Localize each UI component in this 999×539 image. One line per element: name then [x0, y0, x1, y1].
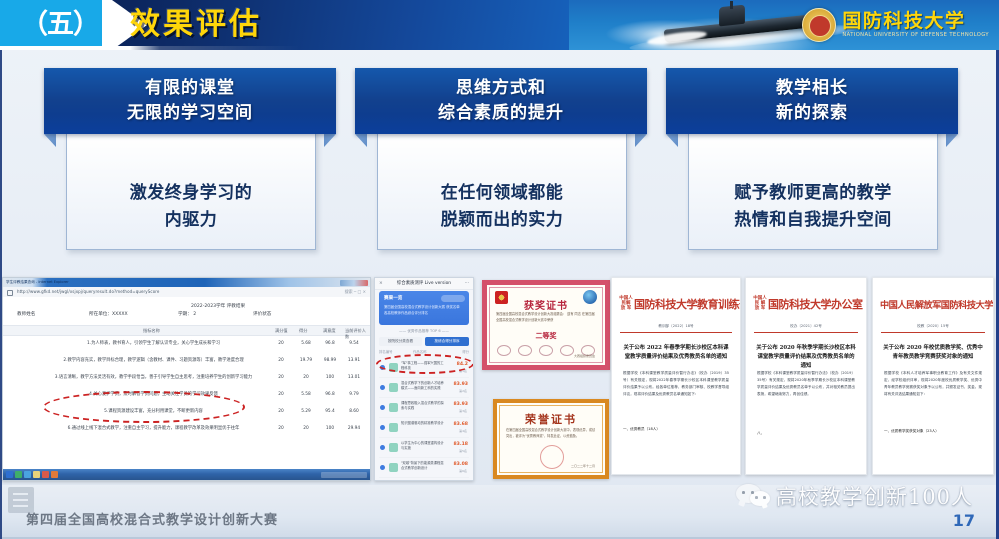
item-3-score: 83.68: [453, 422, 468, 427]
windows-taskbar: [3, 469, 370, 480]
header-underline: [0, 46, 999, 50]
official-document-1: 中国人民解 放 军国防科技大学教育训练部 教训部〔2022〕18号 关于公布 2…: [611, 277, 741, 475]
university-name-en: NATIONAL UNIVERSITY OF DEFENSE TECHNOLOG…: [842, 31, 989, 39]
outcome-card-1-banner: 有限的课堂 无限的学习空间: [44, 68, 336, 134]
ranking-app-screenshot: × 综合素质测评 Live version ··· 赛果一览 第四届全国高校混合…: [374, 277, 474, 481]
row-3-c1: 5.58: [294, 386, 318, 403]
doc-2-paragraph: 根据学校《本科课堂教学质量评价暂行办法》（校办〔2019〕35号）有关规定，现将…: [757, 370, 855, 398]
doc-1-title: 关于公布 2022 年春季学期长沙校区本科课堂教学质量评价结果及优秀教员名单的通…: [622, 344, 730, 362]
evaluation-meta: 教师姓名 所在单位：XXXXX 学期： 2 2022-2023学年 评教结果 评…: [3, 303, 370, 319]
doc-3-title: 关于公布 2020 年校优质教学奖、优秀中青年教员教学竞赛获奖对象的通知: [883, 344, 983, 362]
radio-icon[interactable]: [380, 405, 385, 410]
radio-icon[interactable]: [380, 465, 385, 470]
award-certificate-sign: 大赛组织委员会: [574, 354, 595, 358]
col-header-2: 得分: [299, 328, 307, 334]
honor-certificate-title: 荣誉证书: [497, 411, 605, 427]
row-5-c2: 100: [318, 420, 342, 437]
slide-canvas: （五） 效果评估 国防科技大学 NATIONAL UNIVERSITY OF D…: [0, 0, 999, 539]
app-tabs: 按院校分类查看 按综合得分排序: [379, 337, 469, 346]
radio-icon[interactable]: [380, 425, 385, 430]
table-row: 2.教学内容充实，教学目标合理，教学逻辑（含教材、课件、习题资源等）丰富，教学进…: [3, 352, 370, 369]
doc-2-org: 中国人民 解 放 军国防科技大学办公室: [753, 296, 859, 311]
item-1-rank: 第2名: [459, 389, 467, 393]
outcome-card-1-banner-line2: 无限的学习空间: [127, 101, 253, 126]
row-5-c1: 20: [294, 420, 318, 437]
submarine-mast: [730, 1, 733, 9]
item-thumbnail: [389, 463, 398, 472]
row-4-c1: 5.29: [294, 403, 318, 420]
doc-1-number: 教训部〔2022〕18号: [612, 324, 740, 329]
outcome-card-3-body: 赋予教师更高的教学 热情和自我提升空间: [689, 165, 937, 249]
slide-footer: 第四届全国高校混合式教学设计创新大赛 高校教学创新100人 17: [0, 485, 999, 539]
official-document-2: 中国人民 解 放 军国防科技大学办公室 校办〔2021〕42号 关于公布 202…: [745, 277, 867, 475]
item-5-name: "双碳"背景下的能源类课程混合式教学创新设计: [401, 461, 445, 471]
row-2-c0: 20: [269, 369, 293, 386]
doc-3-paragraph: 根据学校《本科人才培养军事职业教育工作》及有关文件规定，经学校组织评审，现将20…: [884, 370, 982, 398]
honor-certificate: 荣誉证书 在第四届全国高校混合式教学设计创新大赛中，表现优异，成绩突出，被评为"…: [493, 399, 609, 479]
evidence-strip: 学生评教结果查询 - Internet Explorer http://www.…: [0, 277, 999, 485]
wechat-watermark: 高校教学创新100人: [736, 481, 973, 511]
doc-1-org-big: 国防科技大学教育训练部: [634, 298, 741, 311]
meta-2: 学期： 2: [178, 311, 196, 317]
ribbon-1-fold-right: [324, 134, 336, 147]
item-4-rank: 第5名: [459, 449, 467, 453]
item-2-rank: 第3名: [459, 409, 467, 413]
watermark-text: 高校教学创新100人: [776, 481, 973, 511]
row-2-c1: 20: [294, 369, 318, 386]
taskbar-icon-2: [15, 471, 22, 478]
row-0-c3: 9.54: [342, 335, 366, 352]
table-row: 6.通过线上线下混合式教学，注重自主学习，提升能力，课程教学改革及效果明显优于往…: [3, 420, 370, 437]
page-number: 17: [953, 511, 975, 530]
list-col-left: 排名编号: [379, 349, 393, 354]
item-thumbnail: [389, 423, 398, 432]
university-name-cn: 国防科技大学: [842, 12, 989, 31]
ribbon-3-fold-right: [946, 134, 958, 147]
item-3-name: 知识图谱驱动的精准教学设计: [401, 421, 445, 426]
row-3-c3: 9.79: [342, 386, 366, 403]
doc-1-org: 中国人民解 放 军国防科技大学教育训练部: [619, 296, 733, 311]
list-item[interactable]: 混合式教学下的创新人才培养模式——面向新工科的实践 83.93 第2名: [379, 378, 469, 398]
list-divider-note: —— 优秀作品推荐 TOP 6 ——: [375, 329, 473, 334]
official-document-3: 中国人民解放军国防科技大学 校教〔2020〕15号 关于公布 2020 年校优质…: [872, 277, 994, 475]
row-1-c1: 19.79: [294, 352, 318, 369]
browser-page: 教师姓名 所在单位：XXXXX 学期： 2 2022-2023学年 评教结果 评…: [3, 297, 370, 469]
col-header-3: 满意度: [323, 328, 336, 334]
lock-icon: [7, 290, 13, 296]
item-thumbnail: [389, 383, 398, 392]
doc-3-rule: [881, 332, 985, 333]
row-5-c3: 29.94: [342, 420, 366, 437]
outcome-card-1-body-line2: 内驱力: [165, 207, 218, 234]
doc-2-number: 校办〔2021〕42号: [746, 324, 866, 329]
meta-4: 评价状态: [253, 311, 271, 317]
col-header-0: 指标名称: [143, 328, 160, 334]
row-4-c0: 20: [269, 403, 293, 420]
app-hero-banner: 赛果一览 第四届全国高校混合式教学设计创新大赛 获奖名单 各高校教师作品综合评分…: [379, 291, 469, 325]
item-thumbnail: [389, 443, 398, 452]
doc-2-org-small: 中国人民 解 放 军: [753, 296, 767, 311]
hero-title: 赛果一览: [384, 295, 402, 301]
red-dashed-highlight: [376, 354, 474, 374]
seal-icon: [497, 345, 511, 356]
outcome-card-3-body-line1: 赋予教师更高的教学: [734, 180, 892, 207]
col-header-1: 满分值: [275, 328, 288, 334]
item-5-rank: 第6名: [459, 469, 467, 473]
star-icon: [814, 20, 825, 31]
item-1-score: 83.93: [453, 382, 468, 387]
honor-certificate-body: 在第四届全国高校混合式教学设计创新大赛中，表现优异，成绩突出，被评为"优秀教师奖…: [506, 428, 596, 439]
taskbar-icon-1: [6, 471, 13, 478]
row-1-c3: 13.91: [342, 352, 366, 369]
page-title: 效果评估: [130, 3, 262, 47]
outcome-card-3-banner-line2: 新的探索: [776, 101, 848, 126]
ribbon-2-fold-right: [635, 134, 647, 147]
university-seal-icon: [802, 8, 836, 42]
honor-certificate-sign: 二〇二二年十二月: [571, 464, 595, 468]
outcome-card-2-body-line2: 脱颖而出的实力: [441, 207, 564, 234]
meta-3: 2022-2023学年 评教结果: [191, 303, 245, 309]
doc-3-org: 中国人民解放军国防科技大学: [880, 296, 986, 312]
browser-titlebar: 学生评教结果查询 - Internet Explorer: [3, 278, 370, 287]
doc-1-section: 一、优秀教员（18人）: [623, 426, 729, 433]
outcome-card-2-banner: 思维方式和 综合素质的提升: [355, 68, 647, 134]
taskbar-icon-3: [24, 471, 31, 478]
outcome-card-1-body-line1: 激发终身学习的: [130, 180, 253, 207]
taskbar-icon-5: [42, 471, 49, 478]
list-item[interactable]: 以学生为中心的课堂重构设计与实施 83.18 第5名: [379, 438, 469, 458]
seal-icon: [539, 345, 553, 356]
doc-2-section: 八、: [757, 430, 855, 437]
row-2-text: 3.语言清晰，教学方法灵活有效，教学手段恰当，善于引导学生自主思考，注重培养学生…: [33, 369, 274, 386]
row-0-c1: 5.68: [294, 335, 318, 352]
doc-3-section: 一、优质教学奖获奖对象（23人）: [884, 428, 982, 435]
doc-2-org-big: 国防科技大学办公室: [768, 298, 863, 311]
university-logo: 国防科技大学 NATIONAL UNIVERSITY OF DEFENSE TE…: [802, 5, 989, 45]
taskbar-icon-4: [33, 471, 40, 478]
row-3-c0: 20: [269, 386, 293, 403]
seal-icon: [518, 345, 532, 356]
outcome-card-3-banner-line1: 教学相长: [776, 76, 848, 101]
outcome-cards: 激发终身学习的 内驱力 在任何领域都能 脱颖而出的实力 赋予教师更高的教学 热情…: [0, 58, 999, 258]
award-certificate-body: 第四届全国高校混合式教学设计创新大赛组委会： 兹有 同志 在第四届全国高校混合式…: [496, 312, 596, 323]
meta-1: 所在单位：XXXXX: [89, 311, 128, 317]
row-1-c2: 98.99: [318, 352, 342, 369]
browser-window-title: 学生评教结果查询 - Internet Explorer: [6, 279, 69, 285]
wechat-icon: [736, 484, 770, 508]
item-5-score: 83.08: [453, 462, 468, 467]
doc-1-org-small: 中国人民解 放 军: [619, 296, 633, 311]
item-3-rank: 第4名: [459, 429, 467, 433]
radio-icon[interactable]: [380, 445, 385, 450]
window-controls: [340, 280, 368, 286]
item-1-name: 混合式教学下的创新人才培养模式——面向新工科的实践: [401, 381, 445, 391]
hero-subtitle: 第四届全国高校混合式教学设计创新大赛 获奖名单 各高校教师作品综合评分排名: [384, 304, 464, 316]
doc-1-paragraph: 根据学校《本科课堂教学质量评价暂行办法》（校办〔2019〕35号）有关规定，现将…: [623, 370, 729, 398]
row-2-c3: 13.01: [342, 369, 366, 386]
award-certificate-grade: 二等奖: [487, 331, 605, 341]
row-1-text: 2.教学内容充实，教学目标合理，教学逻辑（含教材、课件、习题资源等）丰富，教学进…: [33, 352, 274, 369]
browser-url-right: 搜索 ─ □ ×: [345, 289, 366, 295]
doc-1-rule: [620, 332, 732, 333]
item-2-score: 83.93: [453, 402, 468, 407]
doc-3-org-big: 中国人民解放军国防科技大学: [880, 300, 993, 311]
row-5-c0: 20: [269, 420, 293, 437]
competition-name: 第四届全国高校混合式教学设计创新大赛: [26, 509, 278, 528]
tab-by-school[interactable]: 按院校分类查看: [379, 337, 422, 346]
row-0-c0: 20: [269, 335, 293, 352]
red-dashed-highlight: [43, 391, 245, 423]
row-1-c0: 20: [269, 352, 293, 369]
app-title: 综合素质测评 Live version: [375, 278, 473, 289]
app-titlebar: × 综合素质测评 Live version ···: [375, 278, 473, 290]
radio-icon[interactable]: [380, 385, 385, 390]
row-0-text: 1.为人师表，教书育人，引领学生了解认识专业，关心学生成长和学习: [33, 335, 274, 352]
doc-3-number: 校教〔2020〕15号: [873, 324, 993, 329]
item-4-name: 以学生为中心的课堂重构设计与实施: [401, 441, 445, 451]
doc-2-title: 关于公布 2020 年秋季学期长沙校区本科课堂教学质量评价结果及优秀教员名单的通…: [756, 344, 856, 371]
row-4-c2: 95.4: [318, 403, 342, 420]
list-item[interactable]: 知识图谱驱动的精准教学设计 83.68 第4名: [379, 418, 469, 438]
outcome-card-2-body-line1: 在任何领域都能: [441, 180, 564, 207]
row-3-c2: 96.8: [318, 386, 342, 403]
item-thumbnail: [389, 403, 398, 412]
slide-edge-left: [0, 50, 2, 539]
slide-header: （五） 效果评估 国防科技大学 NATIONAL UNIVERSITY OF D…: [0, 0, 999, 50]
section-number: （五）: [8, 2, 112, 48]
table-row: 3.语言清晰，教学方法灵活有效，教学手段恰当，善于引导学生自主思考，注重培养学生…: [3, 369, 370, 386]
list-col-right: 得分: [462, 349, 469, 354]
taskbar-tray: [321, 472, 367, 478]
taskbar-icon-6: [51, 471, 58, 478]
evaluation-system-screenshot: 学生评教结果查询 - Internet Explorer http://www.…: [2, 277, 371, 481]
table-row: 1.为人师表，教书育人，引领学生了解认识专业，关心学生成长和学习 20 5.68…: [3, 335, 370, 352]
award-certificate: 获奖证书 第四届全国高校混合式教学设计创新大赛组委会： 兹有 同志 在第四届全国…: [482, 280, 610, 370]
more-icon: ···: [465, 281, 469, 286]
award-certificate-title: 获奖证书: [487, 297, 605, 312]
hero-button[interactable]: [441, 295, 465, 302]
list-item[interactable]: 课程思政融入混合式教学的探索与实践 83.93 第3名: [379, 398, 469, 418]
browser-url: http://www.gfkd.net/jwgl/xsjxpj/queryres…: [17, 289, 159, 295]
outcome-card-1-body: 激发终身学习的 内驱力: [67, 165, 315, 249]
outcome-card-3-banner: 教学相长 新的探索: [666, 68, 958, 134]
item-2-name: 课程思政融入混合式教学的探索与实践: [401, 401, 445, 411]
ribbon-2-fold-left: [355, 134, 367, 147]
red-stamp-icon: [540, 445, 564, 469]
meta-0: 教师姓名: [17, 311, 35, 317]
tab-by-score[interactable]: 按综合得分排序: [425, 337, 469, 346]
item-4-score: 83.18: [453, 442, 468, 447]
list-item[interactable]: "双碳"背景下的能源类课程混合式教学创新设计 83.08 第6名: [379, 458, 469, 478]
outcome-card-2-banner-line2: 综合素质的提升: [438, 101, 564, 126]
doc-2-rule: [754, 332, 858, 333]
row-4-c3: 8.60: [342, 403, 366, 420]
row-2-c2: 100: [318, 369, 342, 386]
row-0-c2: 96.8: [318, 335, 342, 352]
outcome-card-3-body-line2: 热情和自我提升空间: [734, 207, 892, 234]
ribbon-1-fold-left: [44, 134, 56, 147]
ribbon-3-fold-left: [666, 134, 678, 147]
outcome-card-2-banner-line1: 思维方式和: [456, 76, 546, 101]
seal-icon: [560, 345, 574, 356]
outcome-card-1-banner-line1: 有限的课堂: [145, 76, 235, 101]
outcome-card-2-body: 在任何领域都能 脱颖而出的实力: [378, 165, 626, 249]
